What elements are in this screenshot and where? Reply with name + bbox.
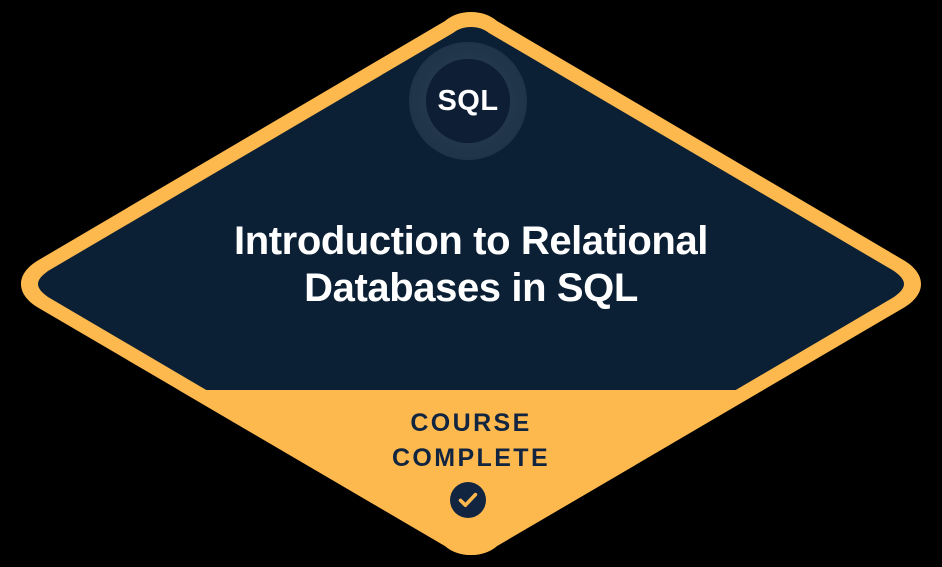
badge-shape: [0, 0, 942, 567]
sql-disc-core: [426, 59, 510, 143]
badge-footer-band: [0, 390, 942, 567]
course-completion-badge: SQL Introduction to Relational Databases…: [0, 0, 942, 567]
